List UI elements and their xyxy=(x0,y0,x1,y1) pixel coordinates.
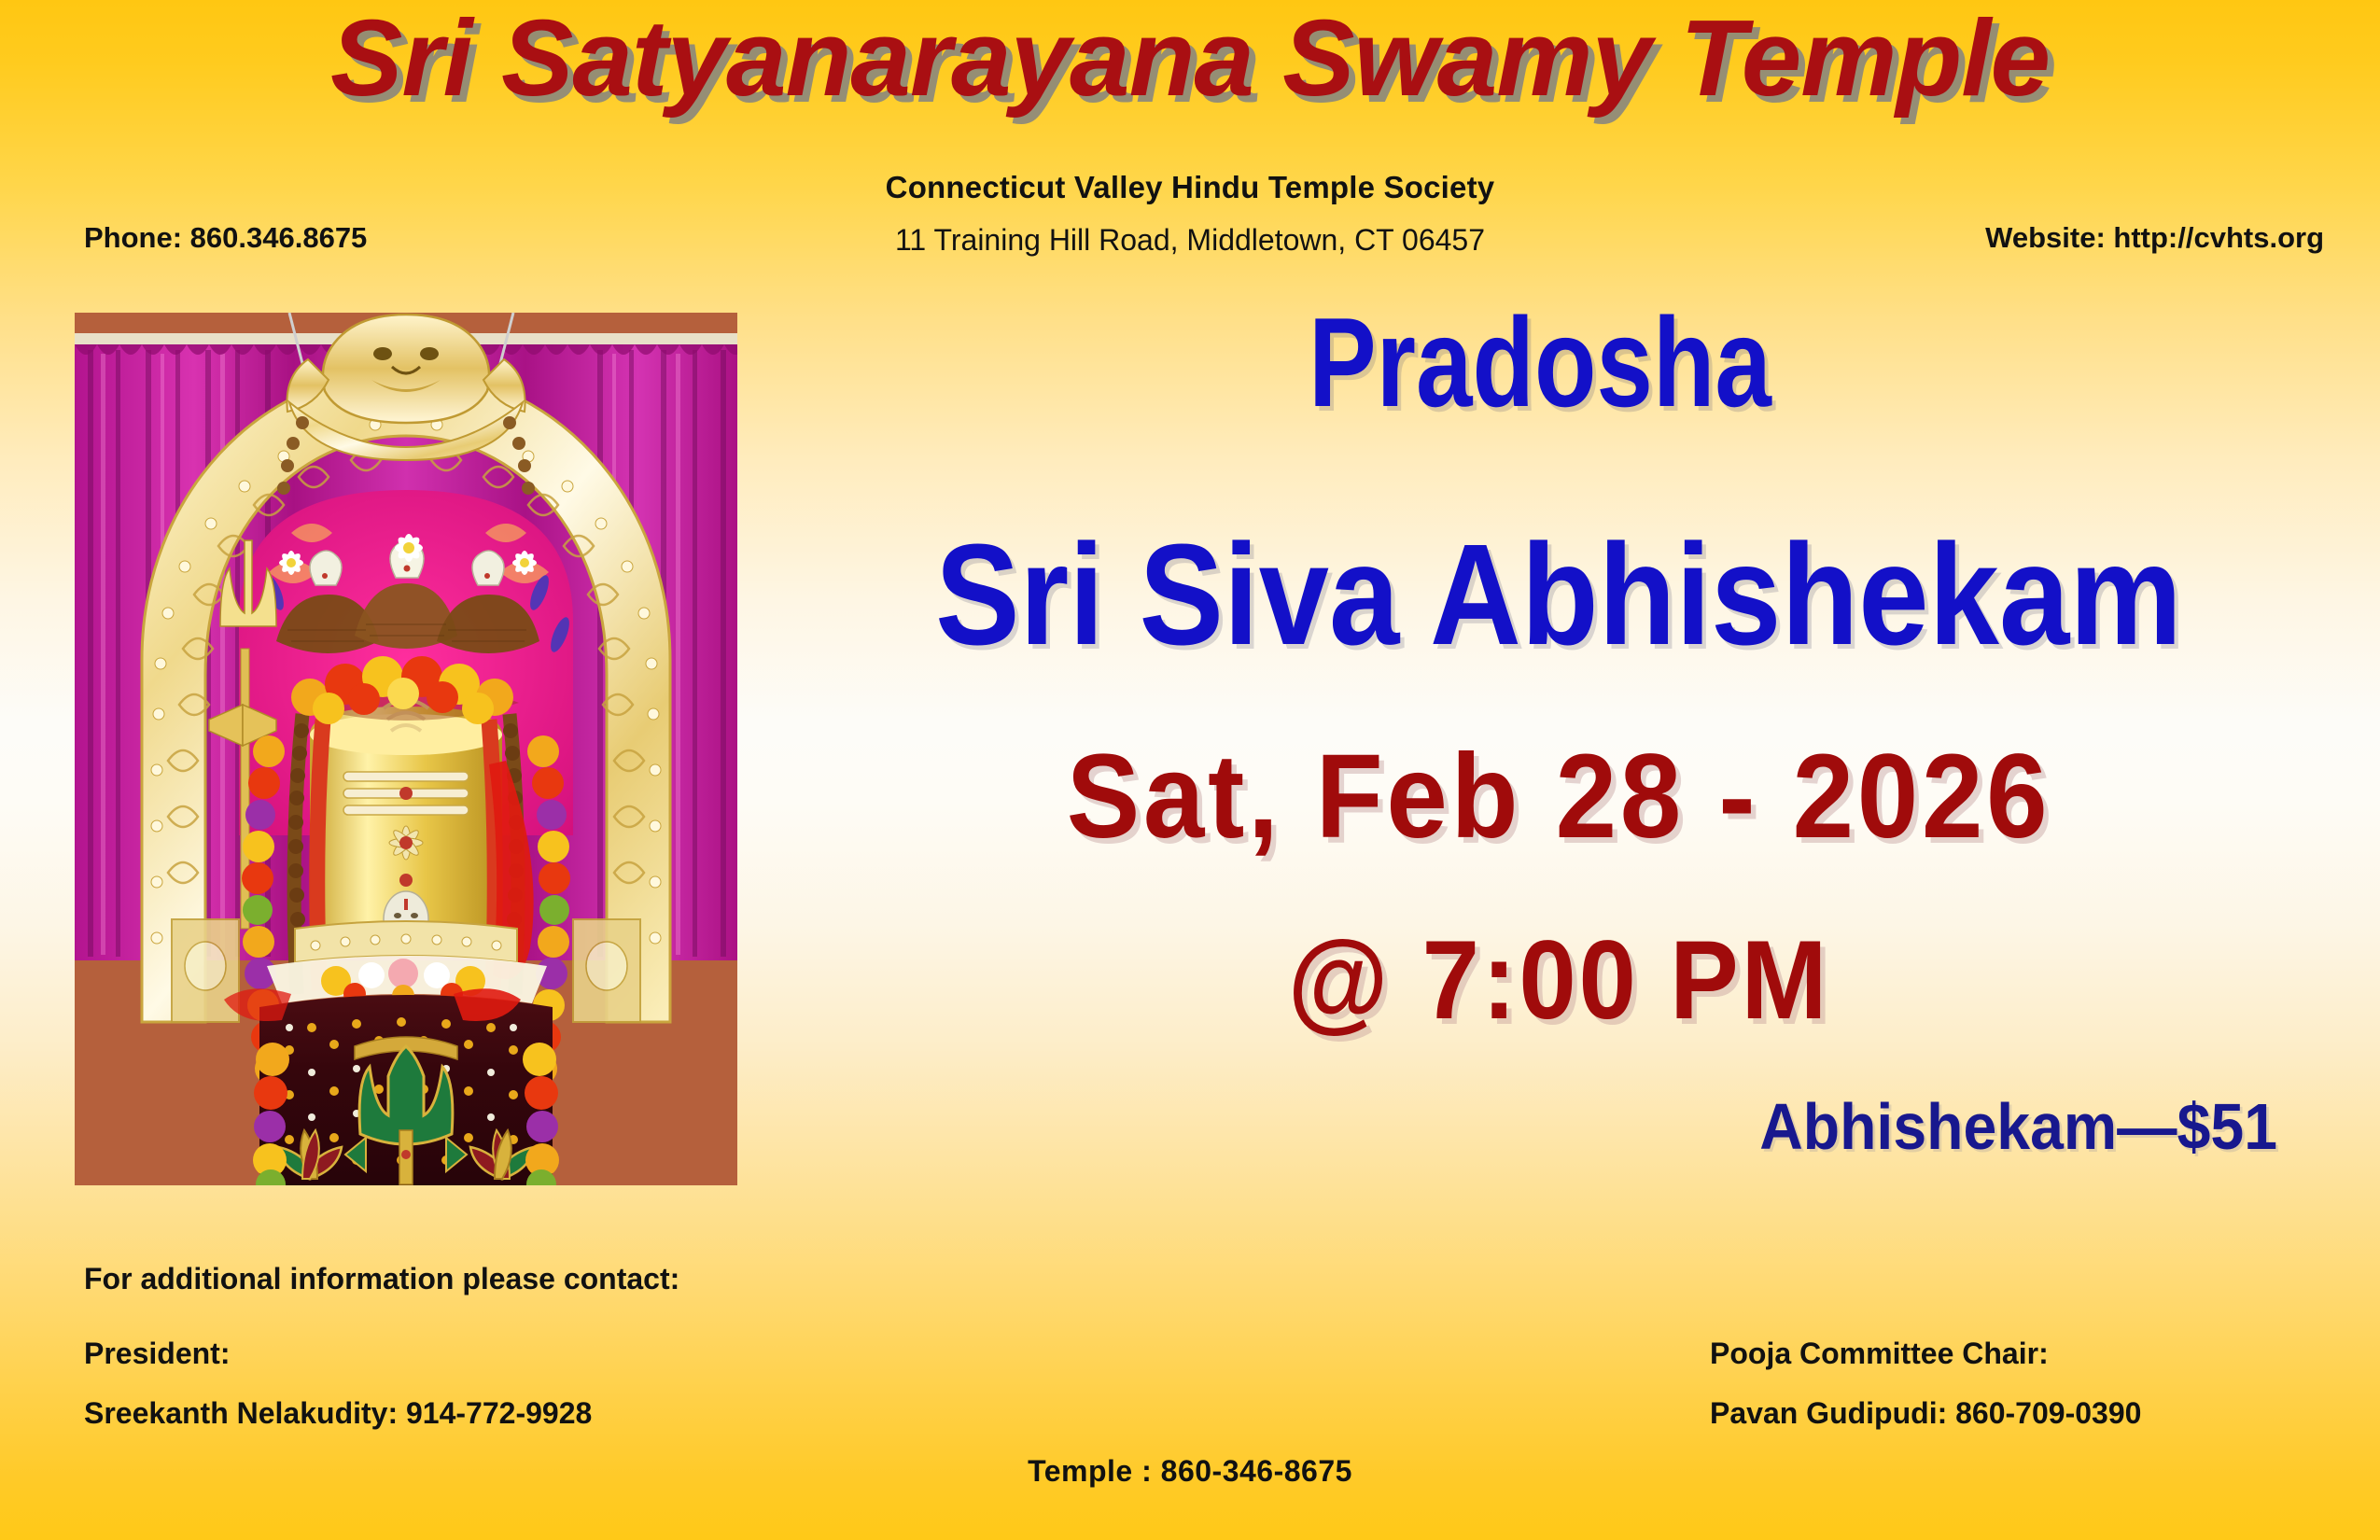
contact-heading: For additional information please contac… xyxy=(84,1262,679,1296)
society-name: Connecticut Valley Hindu Temple Society xyxy=(0,170,2380,205)
event-time: @ 7:00 PM xyxy=(803,924,2314,1036)
event-price: Abhishekam—$51 xyxy=(1759,1094,2277,1159)
altar-cloth xyxy=(259,995,553,1185)
deity-photo xyxy=(75,313,737,1185)
event-subtitle: Sri Siva Abhishekam xyxy=(836,523,2282,666)
president-label: President: xyxy=(84,1337,230,1371)
shiva-lingam xyxy=(310,700,502,947)
temple-phone-footer: Temple : 860-346-8675 xyxy=(0,1454,2380,1489)
pooja-chair-contact: Pavan Gudipudi: 860-709-0390 xyxy=(1710,1396,2141,1431)
event-date: Sat, Feb 28 - 2026 xyxy=(803,737,2314,857)
header-phone: Phone: 860.346.8675 xyxy=(84,221,367,255)
pooja-chair-label: Pooja Committee Chair: xyxy=(1710,1337,2049,1371)
president-contact: Sreekanth Nelakudity: 914-772-9928 xyxy=(84,1396,592,1431)
deity-photo-illustration xyxy=(75,313,737,1185)
temple-event-flyer: Sri Satyanarayana Swamy Temple Connectic… xyxy=(0,0,2380,1540)
header-website[interactable]: Website: http://cvhts.org xyxy=(1985,221,2324,255)
temple-title: Sri Satyanarayana Swamy Temple xyxy=(0,4,2380,112)
event-name: Pradosha xyxy=(898,299,2182,426)
